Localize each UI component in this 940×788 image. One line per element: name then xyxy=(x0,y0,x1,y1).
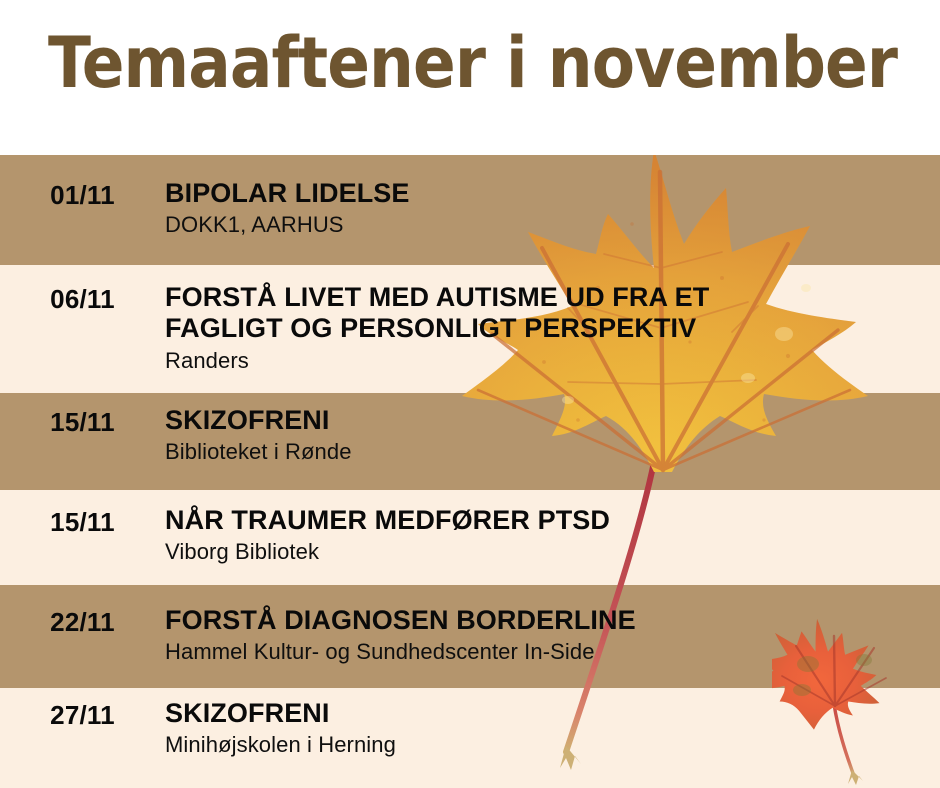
poster-canvas: Temaaftener i november 01/11 BIPOLAR LID… xyxy=(0,0,940,788)
event-title: FORSTÅ DIAGNOSEN BORDERLINE xyxy=(165,605,785,636)
event-title: SKIZOFRENI xyxy=(165,698,725,729)
event-body: BIPOLAR LIDELSE DOKK1, AARHUS xyxy=(165,178,940,239)
event-date: 27/11 xyxy=(0,698,165,731)
event-body: FORSTÅ DIAGNOSEN BORDERLINE Hammel Kultu… xyxy=(165,605,940,666)
event-title: BIPOLAR LIDELSE xyxy=(165,178,725,209)
event-date: 01/11 xyxy=(0,178,165,211)
event-date: 15/11 xyxy=(0,405,165,438)
page-title: Temaaftener i november xyxy=(48,28,897,98)
event-date: 15/11 xyxy=(0,505,165,538)
event-venue: Hammel Kultur- og Sundhedscenter In-Side xyxy=(165,639,940,665)
event-venue: Minihøjskolen i Herning xyxy=(165,732,940,758)
event-body: SKIZOFRENI Biblioteket i Rønde xyxy=(165,405,940,466)
list-item[interactable]: 15/11 SKIZOFRENI Biblioteket i Rønde xyxy=(0,405,940,466)
event-venue: DOKK1, AARHUS xyxy=(165,212,940,238)
list-item[interactable]: 27/11 SKIZOFRENI Minihøjskolen i Herning xyxy=(0,698,940,759)
list-item[interactable]: 06/11 FORSTÅ LIVET MED AUTISME UD FRA ET… xyxy=(0,282,940,374)
poster-header: Temaaftener i november xyxy=(0,0,940,155)
event-venue: Randers xyxy=(165,348,940,374)
event-body: SKIZOFRENI Minihøjskolen i Herning xyxy=(165,698,940,759)
list-item[interactable]: 15/11 NÅR TRAUMER MEDFØRER PTSD Viborg B… xyxy=(0,505,940,566)
event-venue: Biblioteket i Rønde xyxy=(165,439,940,465)
event-title: SKIZOFRENI xyxy=(165,405,725,436)
list-item[interactable]: 22/11 FORSTÅ DIAGNOSEN BORDERLINE Hammel… xyxy=(0,605,940,666)
event-title: FORSTÅ LIVET MED AUTISME UD FRA ET FAGLI… xyxy=(165,282,745,345)
event-body: FORSTÅ LIVET MED AUTISME UD FRA ET FAGLI… xyxy=(165,282,940,374)
event-title: NÅR TRAUMER MEDFØRER PTSD xyxy=(165,505,765,536)
event-body: NÅR TRAUMER MEDFØRER PTSD Viborg Bibliot… xyxy=(165,505,940,566)
event-date: 06/11 xyxy=(0,282,165,315)
event-date: 22/11 xyxy=(0,605,165,638)
event-venue: Viborg Bibliotek xyxy=(165,539,940,565)
list-item[interactable]: 01/11 BIPOLAR LIDELSE DOKK1, AARHUS xyxy=(0,178,940,239)
